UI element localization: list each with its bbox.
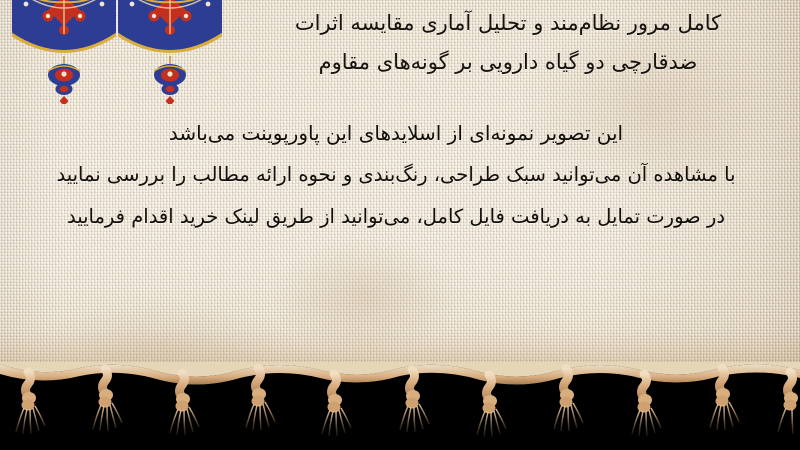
persian-medallion-pendant-icon: [12, 0, 116, 104]
slide-title: کامل مرور نظام‌مند و تحلیل آماری مقایسه …: [238, 4, 778, 82]
title-line-1: کامل مرور نظام‌مند و تحلیل آماری مقایسه …: [238, 4, 778, 43]
knotted-carpet-fringe: [0, 362, 800, 450]
persian-medallion-pendant-icon: [118, 0, 222, 104]
slide-canvas: کامل مرور نظام‌مند و تحلیل آماری مقایسه …: [0, 0, 800, 450]
slide-body: این تصویر نمونه‌ای از اسلایدهای این پاور…: [12, 112, 780, 238]
title-line-2: ضدقارچی دو گیاه دارویی بر گونه‌های مقاوم: [238, 43, 778, 82]
body-line-1: این تصویر نمونه‌ای از اسلایدهای این پاور…: [12, 112, 780, 154]
body-line-3: در صورت تمایل به دریافت فایل کامل، می‌تو…: [12, 196, 780, 238]
body-line-2: با مشاهده آن می‌توانید سبک طراحی، رنگ‌بن…: [12, 154, 780, 196]
